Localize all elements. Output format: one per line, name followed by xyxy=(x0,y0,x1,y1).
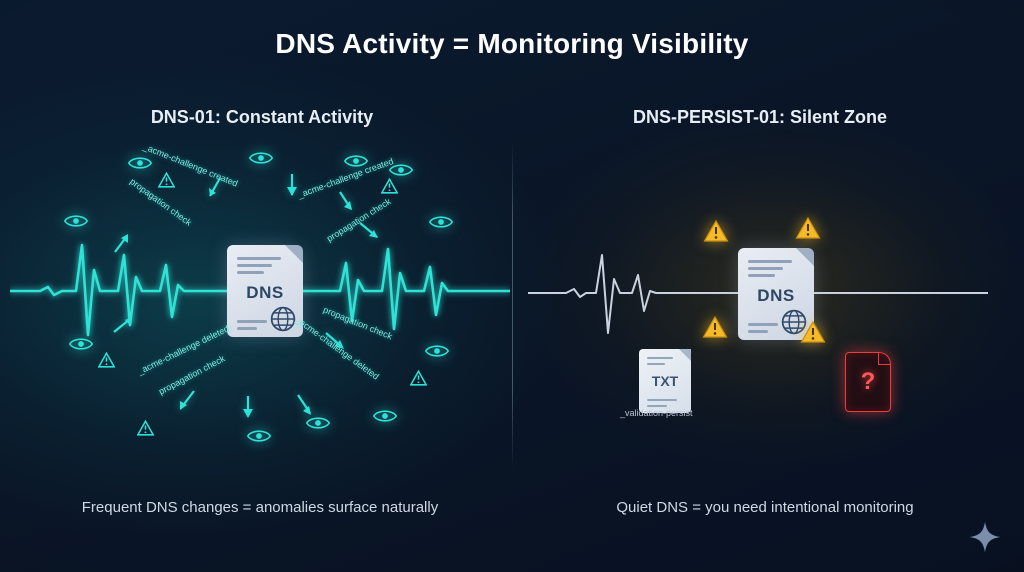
document-text-line xyxy=(647,357,673,359)
unknown-document-icon: ? xyxy=(845,352,891,412)
left-dns-document-label: DNS xyxy=(227,283,303,303)
page-title: DNS Activity = Monitoring Visibility xyxy=(0,28,1024,60)
document-text-line xyxy=(647,405,667,407)
document-bottom-line-2 xyxy=(237,327,257,330)
arrow-icon xyxy=(233,392,263,422)
eye-icon xyxy=(424,343,450,359)
arrow-icon xyxy=(172,385,202,415)
eye-icon xyxy=(428,214,454,230)
globe-icon xyxy=(269,305,297,333)
left-panel-caption: Frequent DNS changes = anomalies surface… xyxy=(25,499,495,516)
document-bottom-line-1 xyxy=(748,323,778,326)
arrow-icon xyxy=(108,310,138,340)
eye-icon xyxy=(372,408,398,424)
flow-label: _acme-challenge created xyxy=(142,141,239,188)
warning-triangle-icon xyxy=(702,315,728,339)
document-text-line xyxy=(647,363,665,365)
arrow-icon xyxy=(290,390,320,420)
left-panel-heading: DNS-01: Constant Activity xyxy=(32,107,492,128)
txt-record-document: TXT xyxy=(639,349,691,413)
arrow-icon xyxy=(330,186,360,216)
warning-triangle-icon xyxy=(381,178,398,194)
warning-triangle-icon xyxy=(795,216,821,240)
txt-record-label: TXT xyxy=(639,373,691,389)
eye-icon xyxy=(68,336,94,352)
document-text-line xyxy=(647,399,677,401)
question-mark-label: ? xyxy=(845,352,891,412)
slide-canvas: DNS Activity = Monitoring Visibility DNS… xyxy=(0,0,1024,572)
eye-icon xyxy=(127,155,153,171)
document-text-lines xyxy=(748,260,792,281)
warning-triangle-icon xyxy=(137,420,154,436)
warning-triangle-icon xyxy=(703,219,729,243)
panel-divider xyxy=(512,140,513,470)
warning-triangle-icon xyxy=(98,352,115,368)
left-dns-document: DNS xyxy=(227,245,303,337)
document-text-lines xyxy=(237,257,281,278)
eye-icon xyxy=(246,428,272,444)
document-bottom-line-1 xyxy=(237,320,267,323)
right-panel-heading: DNS-PERSIST-01: Silent Zone xyxy=(530,107,990,128)
warning-triangle-icon xyxy=(800,320,826,344)
sparkle-icon xyxy=(968,520,1002,554)
warning-triangle-icon xyxy=(158,172,175,188)
warning-triangle-icon xyxy=(410,370,427,386)
eye-icon xyxy=(63,213,89,229)
right-panel-caption: Quiet DNS = you need intentional monitor… xyxy=(530,499,1000,516)
document-bottom-line-2 xyxy=(748,330,768,333)
eye-icon xyxy=(248,150,274,166)
txt-record-caption: _validation-persist xyxy=(620,408,693,418)
right-dns-document-label: DNS xyxy=(738,286,814,306)
arrow-icon xyxy=(107,228,137,258)
